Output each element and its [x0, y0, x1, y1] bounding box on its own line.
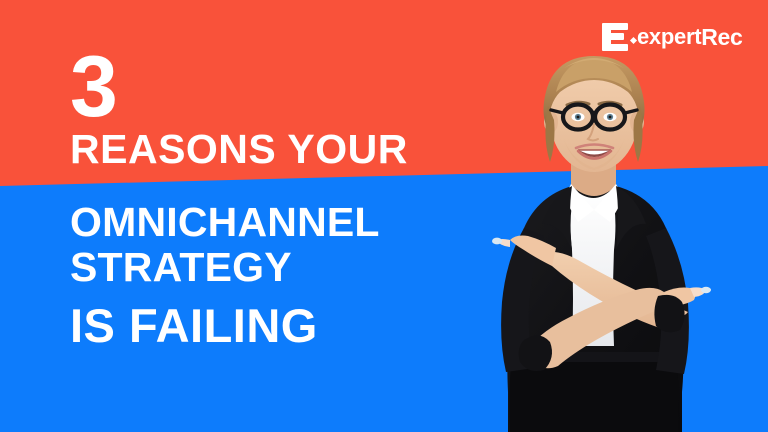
headline-line-2: OMNICHANNEL [70, 202, 490, 243]
promo-banner: expert Rec 3 REASONS YOUR OMNICHANNEL ST… [0, 0, 768, 432]
headline-block: 3 REASONS YOUR OMNICHANNEL STRATEGY IS F… [70, 48, 490, 349]
headline-number: 3 [70, 48, 490, 127]
headline-line-1: REASONS YOUR [70, 129, 490, 170]
presenter-illustration [468, 0, 768, 432]
headline-line-4: IS FAILING [70, 302, 490, 349]
headline-line-3: STRATEGY [70, 247, 490, 288]
presenter-figure [468, 0, 768, 432]
